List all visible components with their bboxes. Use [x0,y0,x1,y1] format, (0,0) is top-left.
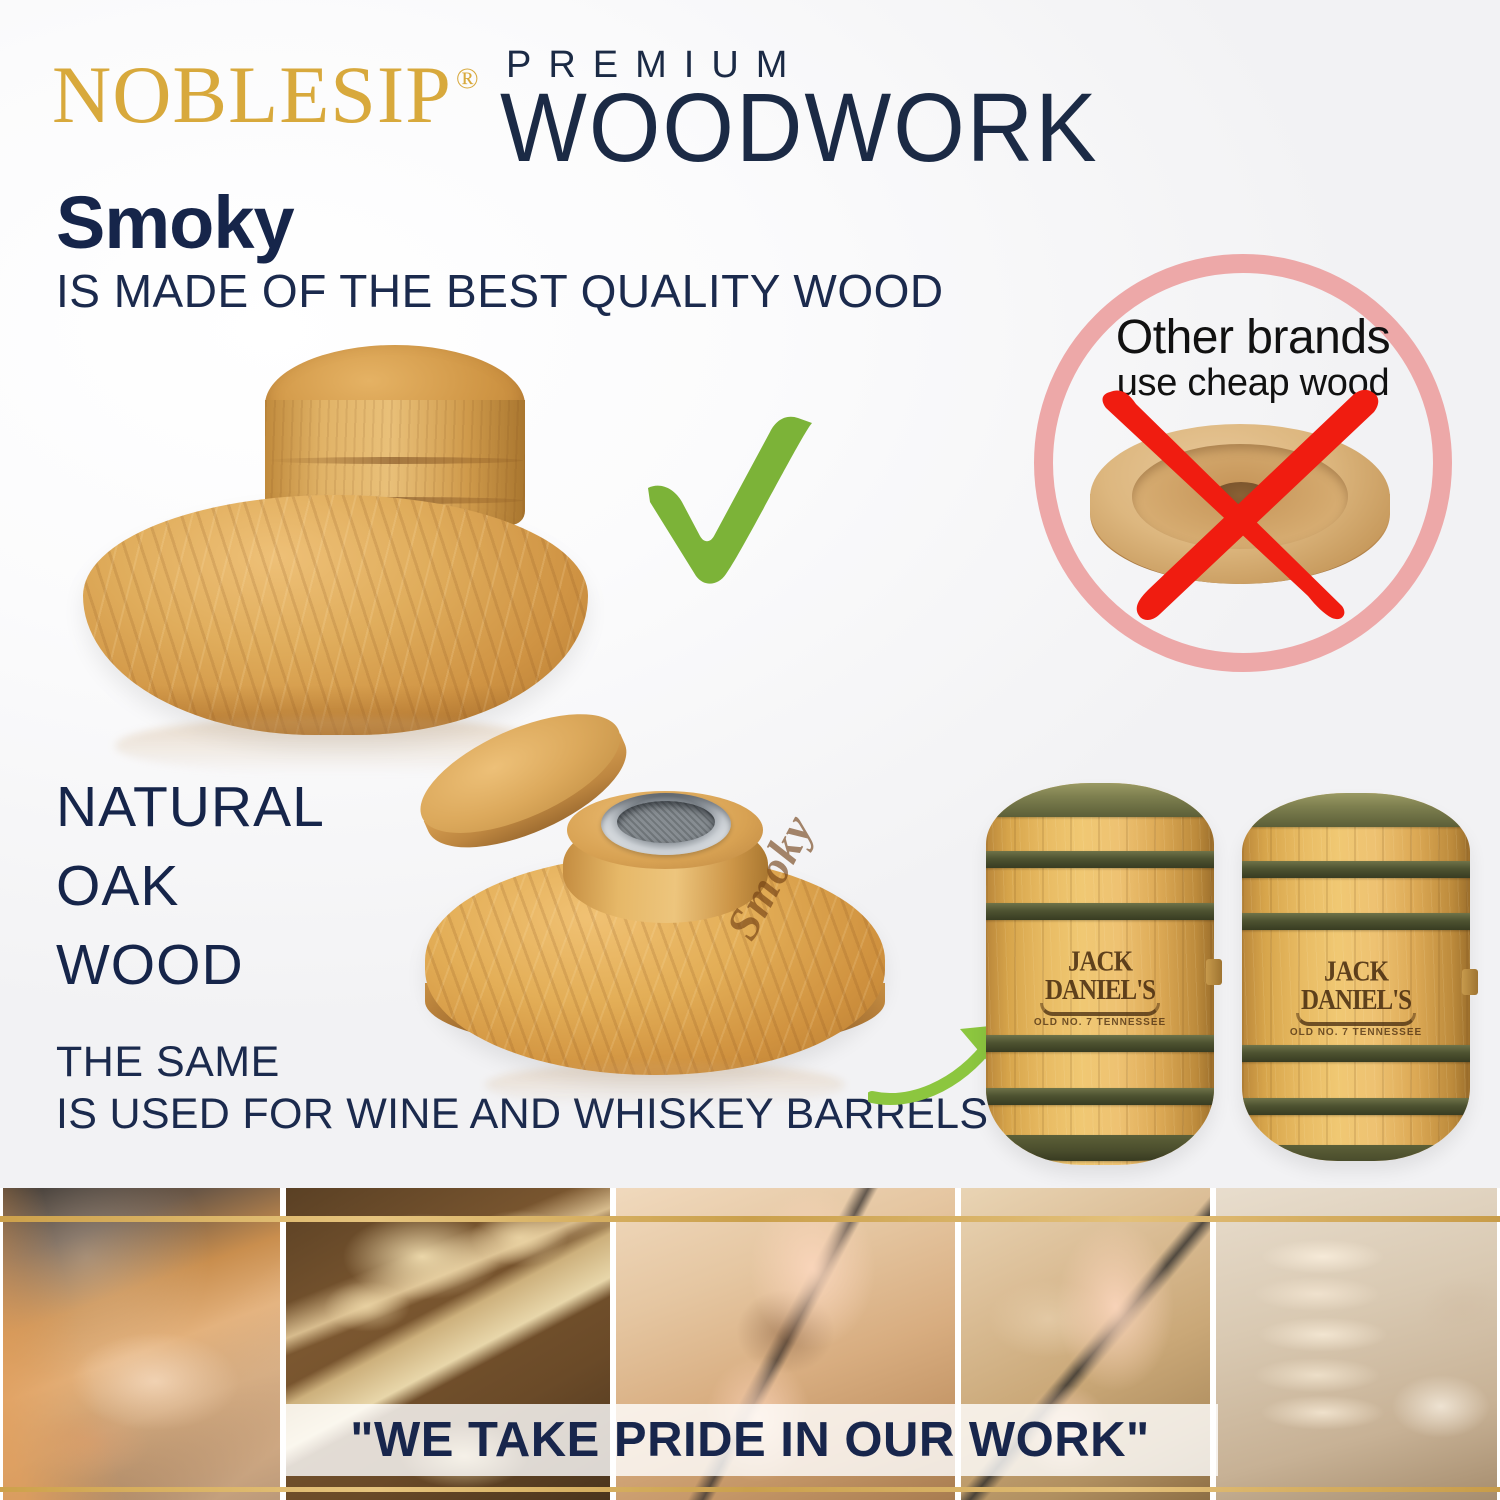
material-line-wood: WOOD [56,926,325,1005]
product-subheading: IS MADE OF THE BEST QUALITY WOOD [56,268,944,314]
workshop-photo-stacked-blanks [1216,1188,1497,1500]
other-brands-line1: Other brands [1028,310,1478,365]
material-line-natural: NATURAL [56,768,325,847]
brand-logo-text: NOBLESIP [52,49,452,140]
smoky-smoker-photo: Smoky [415,715,915,1085]
barrel-hoop-5 [1242,1098,1470,1115]
registered-trademark-icon: ® [456,62,479,95]
oak-coaster-photo [75,345,595,735]
barrel-brand-stamp: JACK DANIEL'S OLD NO. 7 TENNESSEE [1025,951,1175,1028]
barrel-brand-sub: OLD NO. 7 TENNESSEE [1025,1018,1175,1028]
barrel-right-bung [1462,969,1478,995]
barrel-left: JACK DANIEL'S OLD NO. 7 TENNESSEE [986,783,1214,1165]
whiskey-barrels-photo: JACK DANIEL'S OLD NO. 7 TENNESSEE JACK D… [980,775,1480,1170]
workshop-photo-carpenter-planing [3,1188,280,1500]
strip-caption-text: "WE TAKE PRIDE IN OUR WORK" [282,1412,1218,1468]
strip-panel-5 [1213,1188,1500,1500]
barrel-brand-stamp: JACK DANIEL'S OLD NO. 7 TENNESSEE [1281,961,1431,1038]
brand-logo-noblesip: NOBLESIP® [52,54,475,136]
barrel-left-body: JACK DANIEL'S OLD NO. 7 TENNESSEE [986,783,1214,1165]
barrel-hoop-bottom [986,1135,1214,1161]
smoker-reflection [485,1063,845,1107]
barrel-hoop-4 [986,1035,1214,1052]
barrel-hoop-2 [986,851,1214,868]
material-note-the-same: THE SAME [56,1036,280,1089]
material-line-oak: OAK [56,847,325,926]
barrel-hoop-top [1242,793,1470,827]
product-name-heading: Smoky [56,186,294,260]
other-brands-callout: Other brands use cheap wood [1028,250,1478,690]
infographic-page: NOBLESIP® PREMIUM WOODWORK Smoky IS MADE… [0,0,1500,1500]
coaster-base-disc [83,495,588,735]
brand-header: NOBLESIP® PREMIUM WOODWORK [0,18,1500,146]
strip-gold-divider-bottom [0,1487,1500,1492]
barrel-hoop-3 [1242,913,1470,930]
barrel-brand-sub: OLD NO. 7 TENNESSEE [1281,1028,1431,1038]
coaster-groove-1 [267,457,523,464]
material-heading: NATURAL OAK WOOD [56,768,325,1006]
barrel-brand-name: JACK DANIEL'S [1025,947,1175,1005]
barrel-brand-name: JACK DANIEL'S [1281,957,1431,1015]
barrel-hoop-2 [1242,861,1470,878]
barrel-hoop-bottom [1242,1145,1470,1161]
barrel-hoop-5 [986,1088,1214,1105]
barrel-hoop-4 [1242,1045,1470,1062]
strip-gold-divider-top [0,1216,1500,1222]
green-check-icon [630,410,830,595]
barrel-left-bung [1206,959,1222,985]
red-x-icon [1080,378,1400,628]
header-woodwork-label: WOODWORK [500,73,1099,184]
barrel-right: JACK DANIEL'S OLD NO. 7 TENNESSEE [1242,793,1470,1161]
barrel-right-body: JACK DANIEL'S OLD NO. 7 TENNESSEE [1242,793,1470,1161]
strip-panel-1 [0,1188,283,1500]
barrel-hoop-top [986,783,1214,817]
barrel-hoop-3 [986,903,1214,920]
